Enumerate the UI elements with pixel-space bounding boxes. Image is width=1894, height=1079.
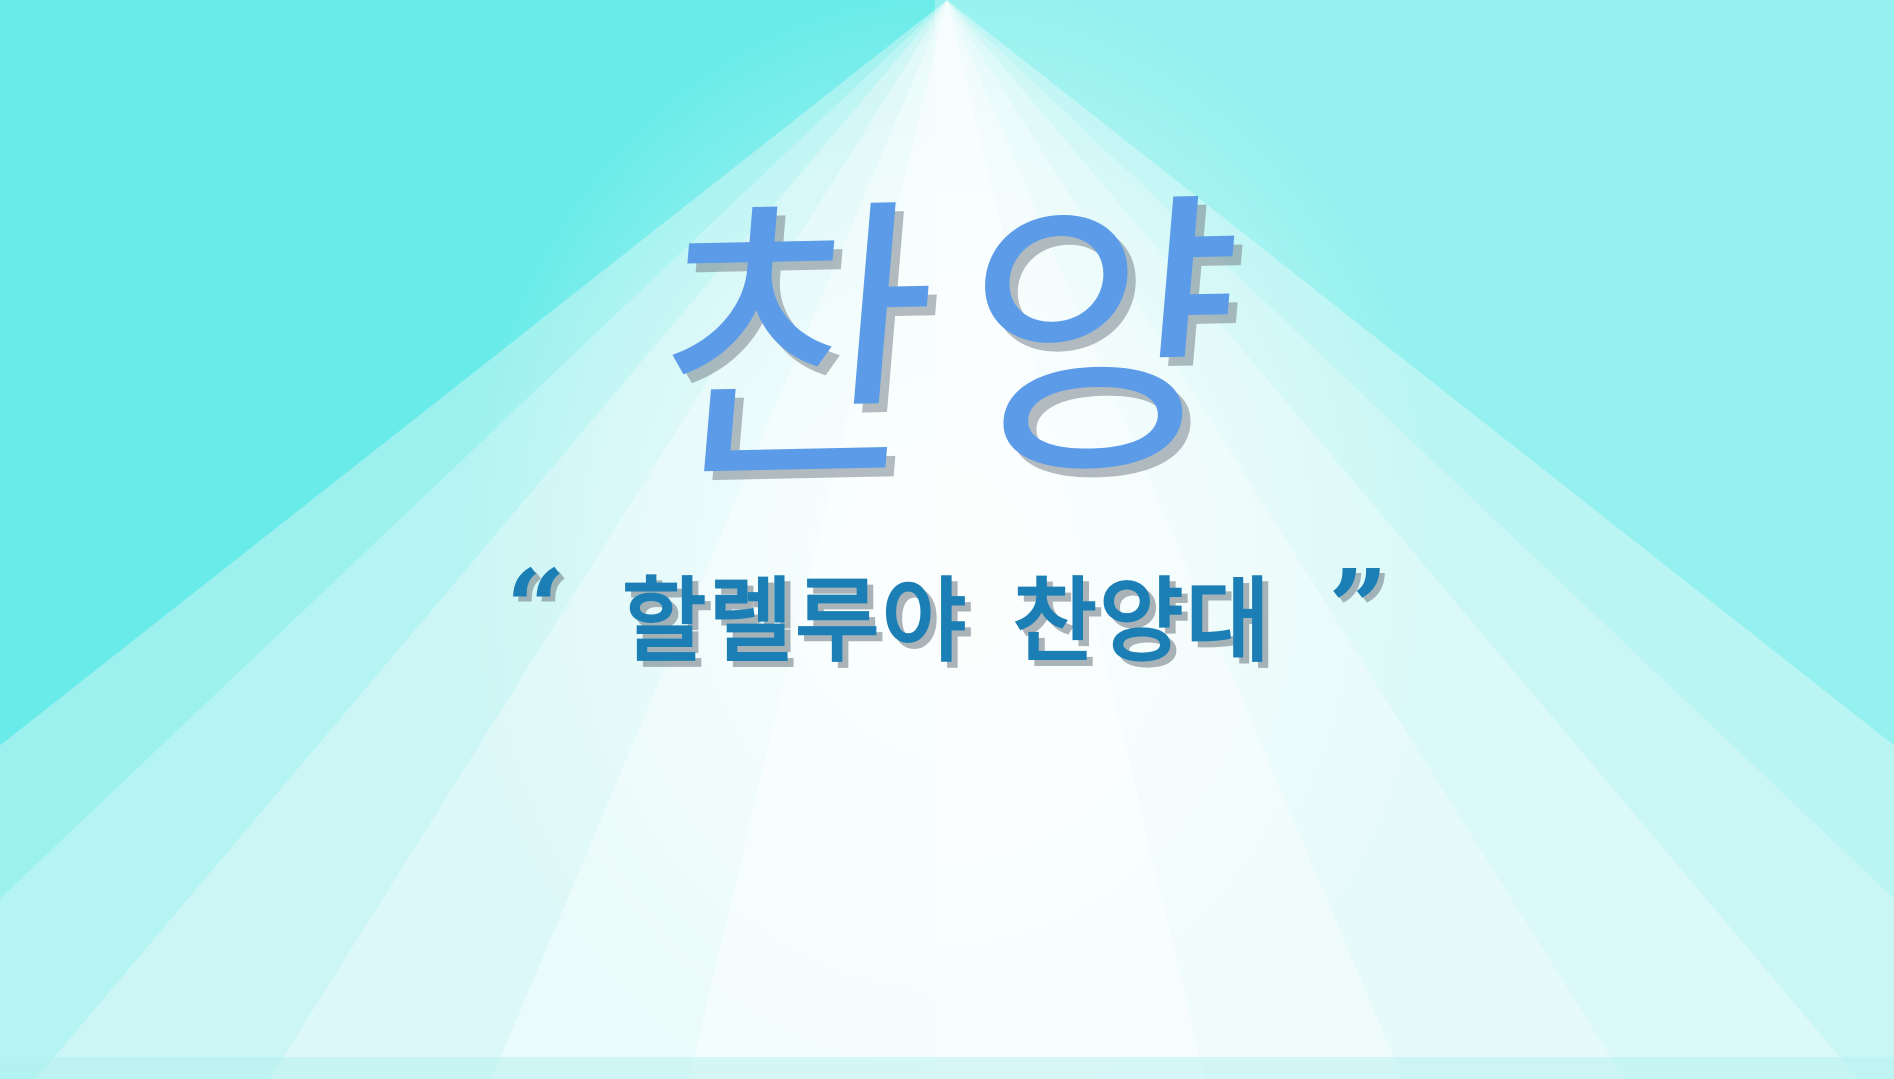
slide-subtitle-row: “ 할렐루야찬양대 ”: [506, 570, 1388, 674]
title-slide: 찬양 “ 할렐루야찬양대 ”: [0, 0, 1894, 1079]
closing-quote-mark: ”: [1328, 556, 1388, 660]
slide-subtitle: 할렐루야찬양대: [622, 576, 1272, 668]
subtitle-part-1: 할렐루야: [622, 568, 969, 675]
slide-content: 찬양 “ 할렐루야찬양대 ”: [0, 0, 1894, 1079]
slide-title: 찬양: [619, 189, 1275, 502]
subtitle-part-2: 찬양대: [1012, 568, 1272, 675]
opening-quote-mark: “: [506, 556, 566, 660]
